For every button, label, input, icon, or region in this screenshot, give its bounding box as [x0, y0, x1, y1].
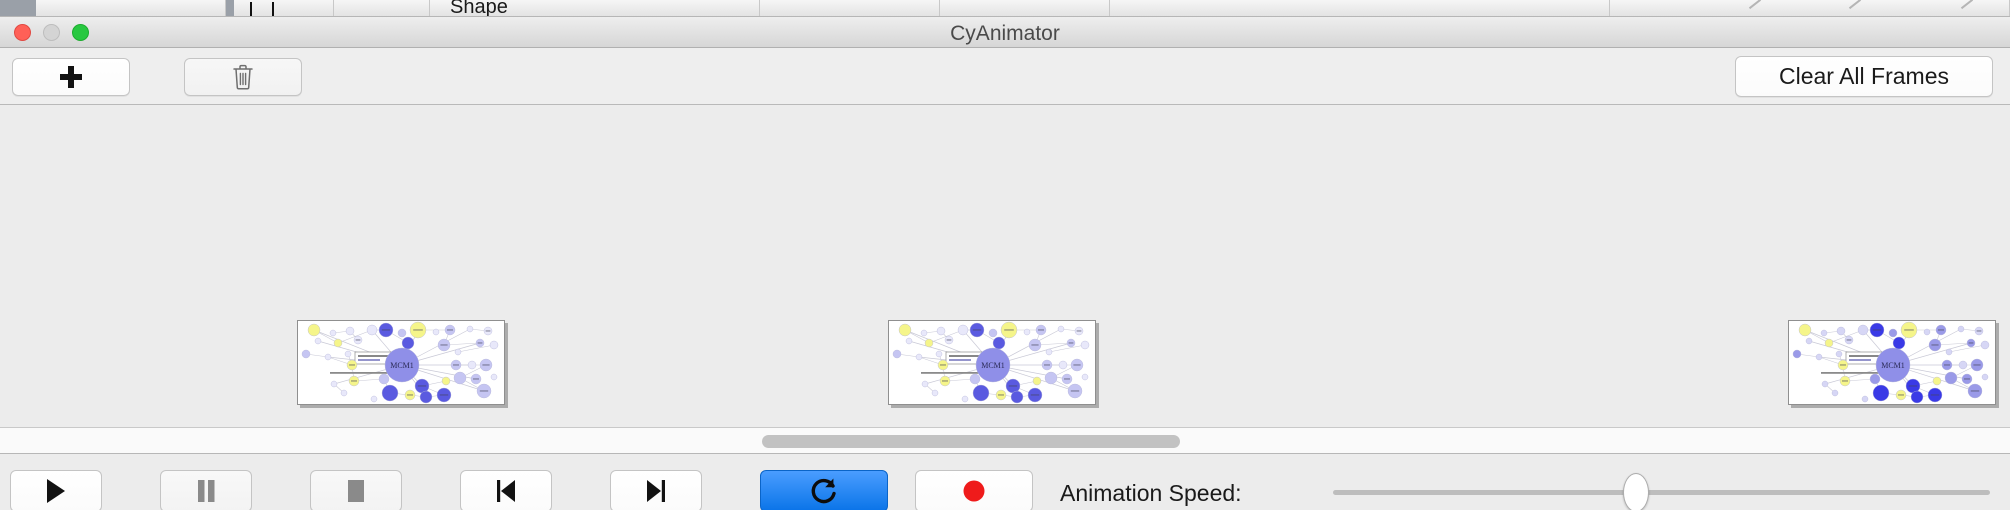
timeline-scrollbar-track[interactable]: [0, 428, 2010, 454]
graph-node: [1981, 341, 1989, 349]
graph-node: [1046, 349, 1052, 355]
graph-node: [916, 354, 922, 360]
playback-controls: Animation Speed:: [0, 454, 2010, 510]
graph-node: [1825, 339, 1833, 347]
graph-node: [1816, 354, 1822, 360]
slider-track[interactable]: [1333, 490, 1990, 495]
graph-node: [382, 385, 398, 401]
animation-speed-slider[interactable]: [1333, 490, 1990, 495]
network-graph: MCM1: [889, 321, 1096, 405]
delete-frame-button[interactable]: [184, 58, 302, 96]
graph-node: [371, 396, 377, 402]
graph-node: [1924, 329, 1930, 335]
graph-node: [1081, 341, 1089, 349]
graph-node: [454, 372, 466, 384]
graph-node: [433, 329, 439, 335]
graph-node: [993, 337, 1005, 349]
loop-icon: [809, 476, 839, 506]
skip-to-end-icon: [643, 478, 669, 504]
graph-node: [1945, 372, 1957, 384]
graph-node: [1832, 390, 1838, 396]
play-button[interactable]: [10, 470, 102, 510]
graph-node: [1082, 374, 1088, 380]
graph-node: [490, 341, 498, 349]
record-icon: [961, 478, 987, 504]
graph-node: [973, 385, 989, 401]
network-graph: MCM1: [298, 321, 505, 405]
graph-node: [341, 390, 347, 396]
graph-node: [899, 324, 911, 336]
graph-node: [937, 327, 945, 335]
graph-node: [379, 374, 389, 384]
graph-node: [1933, 377, 1941, 385]
background-window-strip: Shape: [0, 0, 2010, 16]
graph-node: [936, 351, 942, 357]
timeline-frame-thumbnail[interactable]: MCM1: [888, 320, 1096, 405]
graph-node: [367, 325, 377, 335]
graph-node: [455, 349, 461, 355]
cyanimator-window: CyAnimator Clear All Frames MCM1MCM1MCM1…: [0, 16, 2010, 510]
graph-node: [1799, 324, 1811, 336]
graph-node: [1821, 330, 1827, 336]
graph-node: [989, 329, 997, 337]
graph-node: [467, 326, 473, 332]
graph-node: [346, 327, 354, 335]
background-window-title: Shape: [450, 0, 508, 16]
pause-button[interactable]: [160, 470, 252, 510]
graph-node: [1893, 337, 1905, 349]
graph-node: [398, 329, 406, 337]
graph-node: [334, 339, 342, 347]
record-button[interactable]: [915, 470, 1033, 510]
graph-node: [420, 391, 432, 403]
trash-icon: [232, 64, 254, 90]
skip-to-start-icon: [493, 478, 519, 504]
graph-node: [922, 381, 928, 387]
frame-timeline[interactable]: MCM1MCM1MCM1 2131415161718 Seconds: [0, 105, 2010, 428]
graph-node: [1870, 374, 1880, 384]
plus-icon: [59, 65, 83, 89]
timeline-frame-thumbnail[interactable]: MCM1: [1788, 320, 1996, 405]
graph-node: [925, 339, 933, 347]
timeline-scrollbar-thumb[interactable]: [762, 435, 1180, 448]
graph-node: [1822, 381, 1828, 387]
graph-node: [893, 350, 901, 358]
graph-node: [1033, 377, 1041, 385]
stop-icon: [344, 478, 368, 504]
clear-all-frames-button[interactable]: Clear All Frames: [1735, 56, 1993, 97]
graph-node: [1059, 361, 1067, 369]
graph-node: [1793, 350, 1801, 358]
graph-node: [1958, 326, 1964, 332]
graph-node: [1982, 374, 1988, 380]
play-icon: [43, 477, 69, 505]
window-title: CyAnimator: [0, 22, 2010, 46]
graph-node: [958, 325, 968, 335]
first-frame-button[interactable]: [460, 470, 552, 510]
graph-node: [1858, 325, 1868, 335]
graph-node: [491, 374, 497, 380]
graph-node: [1862, 396, 1868, 402]
graph-node: [1836, 351, 1842, 357]
graph-node: [1011, 391, 1023, 403]
animation-speed-label: Animation Speed:: [1060, 480, 1242, 507]
graph-node: [962, 396, 968, 402]
last-frame-button[interactable]: [610, 470, 702, 510]
timeline-frame-thumbnail[interactable]: MCM1: [297, 320, 505, 405]
hub-node-label: MCM1: [1881, 361, 1905, 370]
pause-icon: [194, 478, 218, 504]
graph-node: [468, 361, 476, 369]
graph-node: [1058, 326, 1064, 332]
graph-node: [302, 350, 310, 358]
graph-node: [345, 351, 351, 357]
graph-node: [921, 330, 927, 336]
graph-node: [1045, 372, 1057, 384]
graph-node: [970, 374, 980, 384]
graph-node: [1837, 327, 1845, 335]
network-graph: MCM1: [1789, 321, 1996, 405]
hub-node-label: MCM1: [981, 361, 1005, 370]
graph-node: [1873, 385, 1889, 401]
hub-node-label: MCM1: [390, 361, 414, 370]
graph-node: [1959, 361, 1967, 369]
graph-node: [315, 338, 321, 344]
title-bar: CyAnimator: [0, 17, 2010, 48]
graph-node: [325, 354, 331, 360]
graph-node: [1911, 391, 1923, 403]
loop-button[interactable]: [760, 470, 888, 510]
graph-node: [1889, 329, 1897, 337]
graph-node: [1806, 338, 1812, 344]
frame-toolbar: Clear All Frames: [0, 48, 2010, 105]
graph-node: [1946, 349, 1952, 355]
graph-node: [1024, 329, 1030, 335]
stop-button[interactable]: [310, 470, 402, 510]
graph-node: [442, 377, 450, 385]
graph-node: [331, 381, 337, 387]
slider-thumb[interactable]: [1623, 473, 1649, 510]
graph-node: [906, 338, 912, 344]
graph-node: [308, 324, 320, 336]
graph-node: [402, 337, 414, 349]
graph-node: [932, 390, 938, 396]
graph-node: [330, 330, 336, 336]
add-frame-button[interactable]: [12, 58, 130, 96]
